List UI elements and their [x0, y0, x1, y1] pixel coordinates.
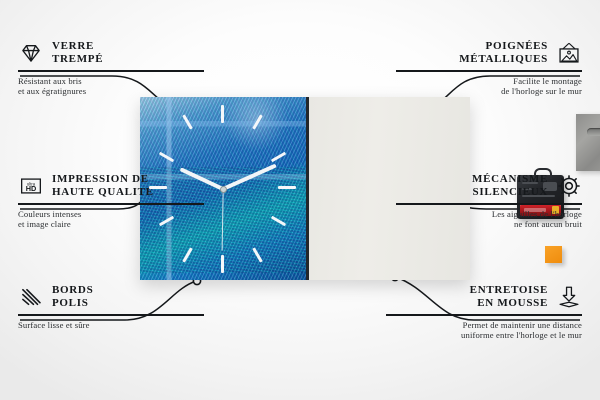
callout-header: VERRE TREMPÉ: [18, 40, 204, 66]
callout-desc-line2: uniforme entre l'horloge et le mur: [386, 330, 582, 340]
callout-desc-line2: et image claire: [18, 219, 204, 229]
callout-header: ENTRETOISE EN MOUSSE: [386, 284, 582, 310]
callout-divider: [18, 314, 204, 316]
callout-title: VERRE TREMPÉ: [52, 40, 103, 66]
callout-entretoise-en-mousse: ENTRETOISE EN MOUSSE Permet de maintenir…: [386, 284, 582, 340]
callout-divider: [386, 314, 582, 316]
callout-title-line1: BORDS: [52, 284, 93, 297]
callout-desc-line1: Couleurs intenses: [18, 209, 204, 219]
callout-description: Résistant aux bris et aux égratignures: [18, 76, 204, 97]
callout-title: POIGNÉES MÉTALLIQUES: [459, 40, 548, 66]
callout-bords-polis: BORDS POLIS Surface lisse et sûre: [18, 284, 204, 330]
clock-second-hand: [221, 189, 223, 251]
callout-desc-line2: et aux égratignures: [18, 86, 204, 96]
callout-description: Couleurs intenses et image claire: [18, 209, 204, 230]
callout-title-line1: IMPRESSION DE: [52, 173, 154, 186]
callout-desc-line1: Résistant aux bris: [18, 76, 204, 86]
callout-desc-line1: Facilite le montage: [396, 76, 582, 86]
callout-title: IMPRESSION DE HAUTE QUALITÉ: [52, 173, 154, 199]
callout-divider: [396, 70, 582, 72]
callout-divider: [18, 70, 204, 72]
metal-hanger-plate: [576, 114, 600, 171]
callout-title-line2: TREMPÉ: [52, 53, 103, 66]
clock-tick-4: [271, 216, 286, 227]
callout-header: BORDS POLIS: [18, 284, 204, 310]
callout-title-line1: POIGNÉES: [459, 40, 548, 53]
clock-tick-11: [182, 114, 193, 129]
callout-poignees-metalliques: POIGNÉES MÉTALLIQUES Facilite le montage…: [396, 40, 582, 96]
callout-verre-trempe: VERRE TREMPÉ Résistant aux bris et aux é…: [18, 40, 204, 96]
hanger-slot: [587, 128, 600, 136]
callout-desc-line2: de l'horloge sur le mur: [396, 86, 582, 96]
clock-tick-3: [278, 186, 296, 189]
callout-title-line2: EN MOUSSE: [470, 297, 548, 310]
callout-title-line1: ENTRETOISE: [470, 284, 548, 297]
callout-divider: [396, 203, 582, 205]
clock-tick-2: [271, 152, 286, 163]
callout-desc-line1: Les aiguilles de l'horloge: [396, 209, 582, 219]
callout-description: Les aiguilles de l'horloge ne font aucun…: [396, 209, 582, 230]
clock-center-pin: [220, 186, 227, 193]
callout-title: BORDS POLIS: [52, 284, 93, 310]
clock-tick-10: [159, 152, 174, 163]
callout-description: Surface lisse et sûre: [18, 320, 204, 330]
gear-icon: [556, 173, 582, 199]
callout-header: ultra HD IMPRESSION DE HAUTE QUALITÉ: [18, 173, 204, 199]
clock-face: [140, 97, 309, 280]
callout-description: Permet de maintenir une distance uniform…: [386, 320, 582, 341]
clock-tick-9: [149, 186, 167, 189]
picture-frame-hanger-icon: [556, 40, 582, 66]
callout-header: POIGNÉES MÉTALLIQUES: [396, 40, 582, 66]
callout-description: Facilite le montage de l'horloge sur le …: [396, 76, 582, 97]
infographic-canvas: VERRE TREMPÉ Résistant aux bris et aux é…: [0, 0, 600, 400]
foam-spacer: [545, 246, 562, 263]
clock-tick-5: [252, 247, 263, 262]
callout-title-line2: MÉTALLIQUES: [459, 53, 548, 66]
ultra-hd-icon: ultra HD: [18, 173, 44, 199]
diamond-icon: [18, 40, 44, 66]
callout-desc-line1: Surface lisse et sûre: [18, 320, 204, 330]
callout-title: ENTRETOISE EN MOUSSE: [470, 284, 548, 310]
diagonal-lines-icon: [18, 284, 44, 310]
callout-title-line2: HAUTE QUALITÉ: [52, 186, 154, 199]
callout-desc-line1: Permet de maintenir une distance: [386, 320, 582, 330]
clock-tick-6: [221, 255, 224, 273]
clock-tick-1: [252, 114, 263, 129]
callout-title-line2: SILENCIEUX: [472, 186, 548, 199]
down-arrow-pad-icon: [556, 284, 582, 310]
callout-title-line2: POLIS: [52, 297, 93, 310]
callout-impression-haute-qualite: ultra HD IMPRESSION DE HAUTE QUALITÉ Cou…: [18, 173, 204, 229]
callout-title-line1: VERRE: [52, 40, 103, 53]
callout-desc-line2: ne font aucun bruit: [396, 219, 582, 229]
callout-header: MÉCANISME SILENCIEUX: [396, 173, 582, 199]
callout-mecanisme-silencieux: MÉCANISME SILENCIEUX Les aiguilles de l'…: [396, 173, 582, 229]
clock-tick-12: [221, 105, 224, 123]
callout-divider: [18, 203, 204, 205]
callout-title-line1: MÉCANISME: [472, 173, 548, 186]
callout-title: MÉCANISME SILENCIEUX: [472, 173, 548, 199]
clock-tick-7: [182, 247, 193, 262]
clock-minute-hand: [222, 164, 277, 191]
ultra-hd-icon-bottom-label: HD: [26, 184, 37, 193]
